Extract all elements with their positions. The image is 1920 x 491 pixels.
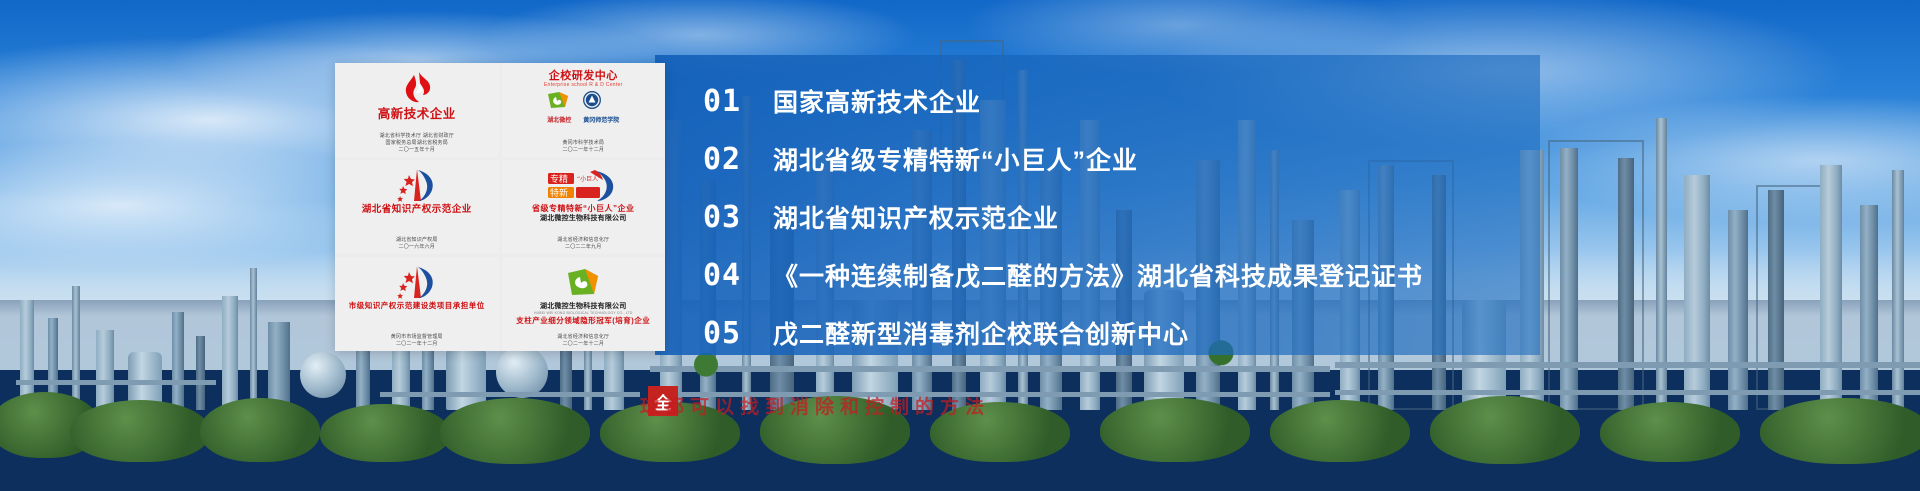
certificate-company-name-latin: HUBEI WEI KONG BIOLOGICAL TECHNOLOGY CO.… [534, 311, 633, 315]
honor-item-number: 01 [703, 84, 773, 119]
university-emblem-icon [583, 91, 619, 114]
red-flame-icon [402, 68, 432, 108]
certificate-company-name: 湖北微控生物科技有限公司 [540, 302, 626, 311]
blue-p-star-icon [395, 262, 439, 302]
zhuanjing-texin-icon: 专精 特新 “小巨人” [546, 165, 620, 205]
certificate-title: 支柱产业细分领域隐形冠军(培育)企业 [516, 317, 650, 325]
honor-list-panel: 01 国家高新技术企业 02 湖北省级专精特新“小巨人”企业 03 湖北省知识产… [655, 55, 1540, 355]
honor-list-item[interactable]: 05 戊二醛新型消毒剂企校联合创新中心 [703, 315, 1540, 351]
certificate-card[interactable]: 企校研发中心 Enterprise school R & D Center 湖北… [502, 63, 666, 157]
certificate-issuer: 湖北省经济和信息化厅 二〇二一年十二月 [557, 334, 609, 348]
certificate-title: 湖北省知识产权示范企业 [362, 205, 472, 215]
certificate-issuer: 黄冈市市场监督管理局 二〇二一年十二月 [391, 334, 443, 348]
honor-item-number: 04 [703, 258, 773, 293]
certificate-subtitle-latin: Enterprise school R & D Center [544, 82, 623, 88]
certificate-card[interactable]: 高新技术企业 湖北省科学技术厅 湖北省财政厅 国家税务总局湖北省税务局 二〇一五… [335, 63, 499, 157]
certificate-card[interactable]: 湖北省知识产权示范企业 湖北省知识产权局 二〇一六年六月 [335, 160, 499, 254]
svg-text:“小巨人”: “小巨人” [577, 175, 601, 183]
logo-caption: 湖北微控 [547, 115, 571, 124]
honor-list-item[interactable]: 03 湖北省知识产权示范企业 [703, 199, 1540, 235]
certificate-title: 企校研发中心 [549, 70, 618, 82]
honor-item-label: 湖北省知识产权示范企业 [773, 199, 1059, 235]
honor-list-item[interactable]: 04 《一种连续制备戊二醛的方法》湖北省科技成果登记证书 [703, 257, 1540, 293]
honor-item-number: 03 [703, 200, 773, 235]
certificate-card[interactable]: 市级知识产权示范建设类项目承担单位 黄冈市市场监督管理局 二〇二一年十二月 [335, 257, 499, 351]
honor-item-label: 国家高新技术企业 [773, 83, 981, 119]
green-swan-icon [547, 91, 571, 114]
svg-text:专精: 专精 [550, 173, 568, 185]
honor-item-number: 02 [703, 142, 773, 177]
honor-list-item[interactable]: 02 湖北省级专精特新“小巨人”企业 [703, 141, 1540, 177]
certificate-issuer: 湖北省经济和信息化厅 二〇二二年九月 [557, 237, 609, 251]
honor-item-label: 《一种连续制备戊二醛的方法》湖北省科技成果登记证书 [773, 257, 1423, 293]
certificate-issuer: 黄冈市科学技术局 二〇二一年十二月 [562, 140, 604, 154]
svg-text:特新: 特新 [550, 187, 568, 199]
honor-item-label: 湖北省级专精特新“小巨人”企业 [773, 141, 1138, 177]
certificate-title: 省级专精特新“小巨人”企业 [532, 205, 635, 214]
certificate-issuer: 湖北省科学技术厅 湖北省财政厅 国家税务总局湖北省税务局 二〇一五年十月 [380, 133, 454, 154]
certificate-card[interactable]: 专精 特新 “小巨人” 省级专精特新“小巨人”企业 湖北微控生物科技有限公司 湖… [502, 160, 666, 254]
hero-banner: 高新技术企业 湖北省科学技术厅 湖北省财政厅 国家税务总局湖北省税务局 二〇一五… [0, 0, 1920, 491]
logo-caption: 黄冈师范学院 [583, 115, 619, 124]
certificate-grid: 高新技术企业 湖北省科学技术厅 湖北省财政厅 国家税务总局湖北省税务局 二〇一五… [335, 63, 665, 351]
certificate-title: 市级知识产权示范建设类项目承担单位 [349, 302, 485, 310]
certificate-issuer: 湖北省知识产权局 二〇一六年六月 [396, 237, 438, 251]
honor-list-item[interactable]: 01 国家高新技术企业 [703, 83, 1540, 119]
slogan-text: 球都可以找到消除和控制的方法 [640, 392, 1420, 419]
certificate-subtitle: 湖北微控生物科技有限公司 [540, 214, 626, 223]
blue-p-star-icon [395, 165, 439, 205]
honor-item-number: 05 [703, 316, 773, 351]
certificate-card[interactable]: 湖北微控生物科技有限公司 HUBEI WEI KONG BIOLOGICAL T… [502, 257, 666, 351]
certificate-title: 高新技术企业 [378, 108, 456, 122]
green-swan-icon [566, 262, 600, 302]
honor-item-label: 戊二醛新型消毒剂企校联合创新中心 [773, 315, 1189, 351]
